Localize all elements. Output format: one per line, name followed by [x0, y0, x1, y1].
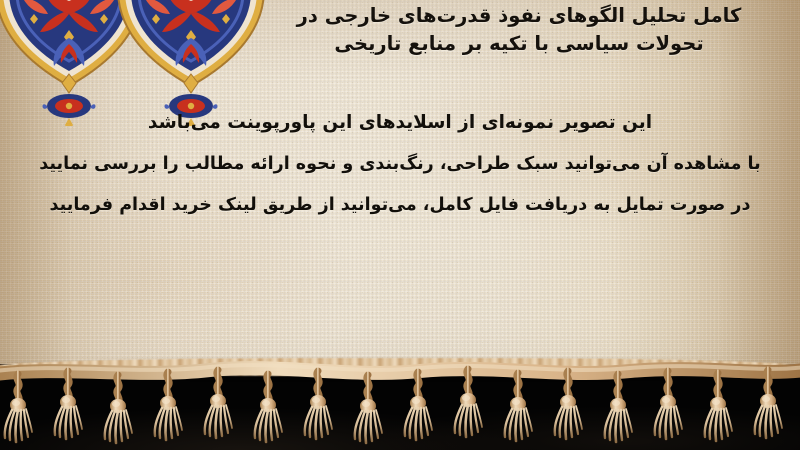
body-line-3: در صورت تمایل به دریافت فایل کامل، می‌تو… [18, 195, 782, 215]
bottom-black-band [0, 364, 800, 450]
slide-title-line-1: کامل تحلیل الگوهای نفوذ قدرت‌های خارجی د… [250, 2, 788, 30]
body-line-2: با مشاهده آن می‌توانید سبک طراحی، رنگ‌بن… [18, 154, 782, 174]
body-line-1: این تصویر نمونه‌ای از اسلایدهای این پاور… [18, 112, 782, 133]
slide-body: این تصویر نمونه‌ای از اسلایدهای این پاور… [18, 112, 782, 215]
carpet-selvedge-edge [0, 358, 800, 376]
slide-title: کامل تحلیل الگوهای نفوذ قدرت‌های خارجی د… [250, 2, 788, 57]
slide-title-line-2: تحولات سیاسی با تکیه بر منابع تاریخی [250, 30, 788, 58]
slide-canvas: کامل تحلیل الگوهای نفوذ قدرت‌های خارجی د… [0, 0, 800, 450]
